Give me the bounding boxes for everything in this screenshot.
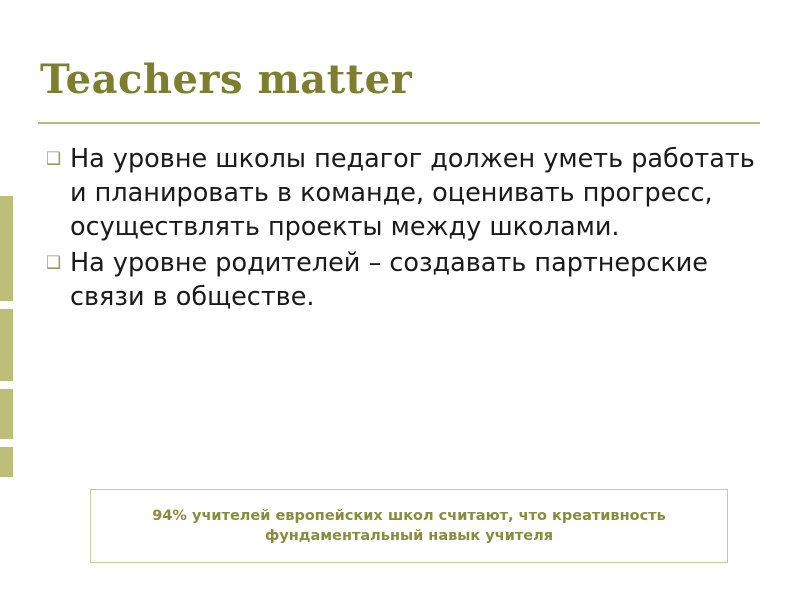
list-item: ❑ На уровне родителей – создавать партне… (42, 246, 757, 314)
slide-title: Teachers matter (40, 58, 760, 102)
callout-line-2: фундаментальный навык учителя (265, 528, 553, 544)
title-divider (38, 122, 760, 124)
list-item-text: На уровне родителей – создавать партнерс… (70, 246, 757, 314)
slide: Teachers matter ❑ На уровне школы педаго… (0, 0, 800, 600)
decorative-accent-bar-1 (0, 196, 13, 301)
decorative-accent-bar-2 (0, 309, 13, 381)
callout-text: 94% учителей европейских школ считают, ч… (140, 506, 678, 546)
decorative-accent-bar-3 (0, 389, 13, 439)
bullet-marker-icon: ❑ (42, 246, 70, 280)
list-item-text: На уровне школы педагог должен уметь раб… (70, 142, 757, 244)
bullet-marker-icon: ❑ (42, 142, 70, 176)
decorative-accent-bar-4 (0, 447, 13, 477)
list-item: ❑ На уровне школы педагог должен уметь р… (42, 142, 757, 244)
slide-body: ❑ На уровне школы педагог должен уметь р… (42, 142, 757, 316)
callout-box: 94% учителей европейских школ считают, ч… (90, 489, 728, 563)
callout-line-1: 94% учителей европейских школ считают, ч… (152, 508, 666, 524)
